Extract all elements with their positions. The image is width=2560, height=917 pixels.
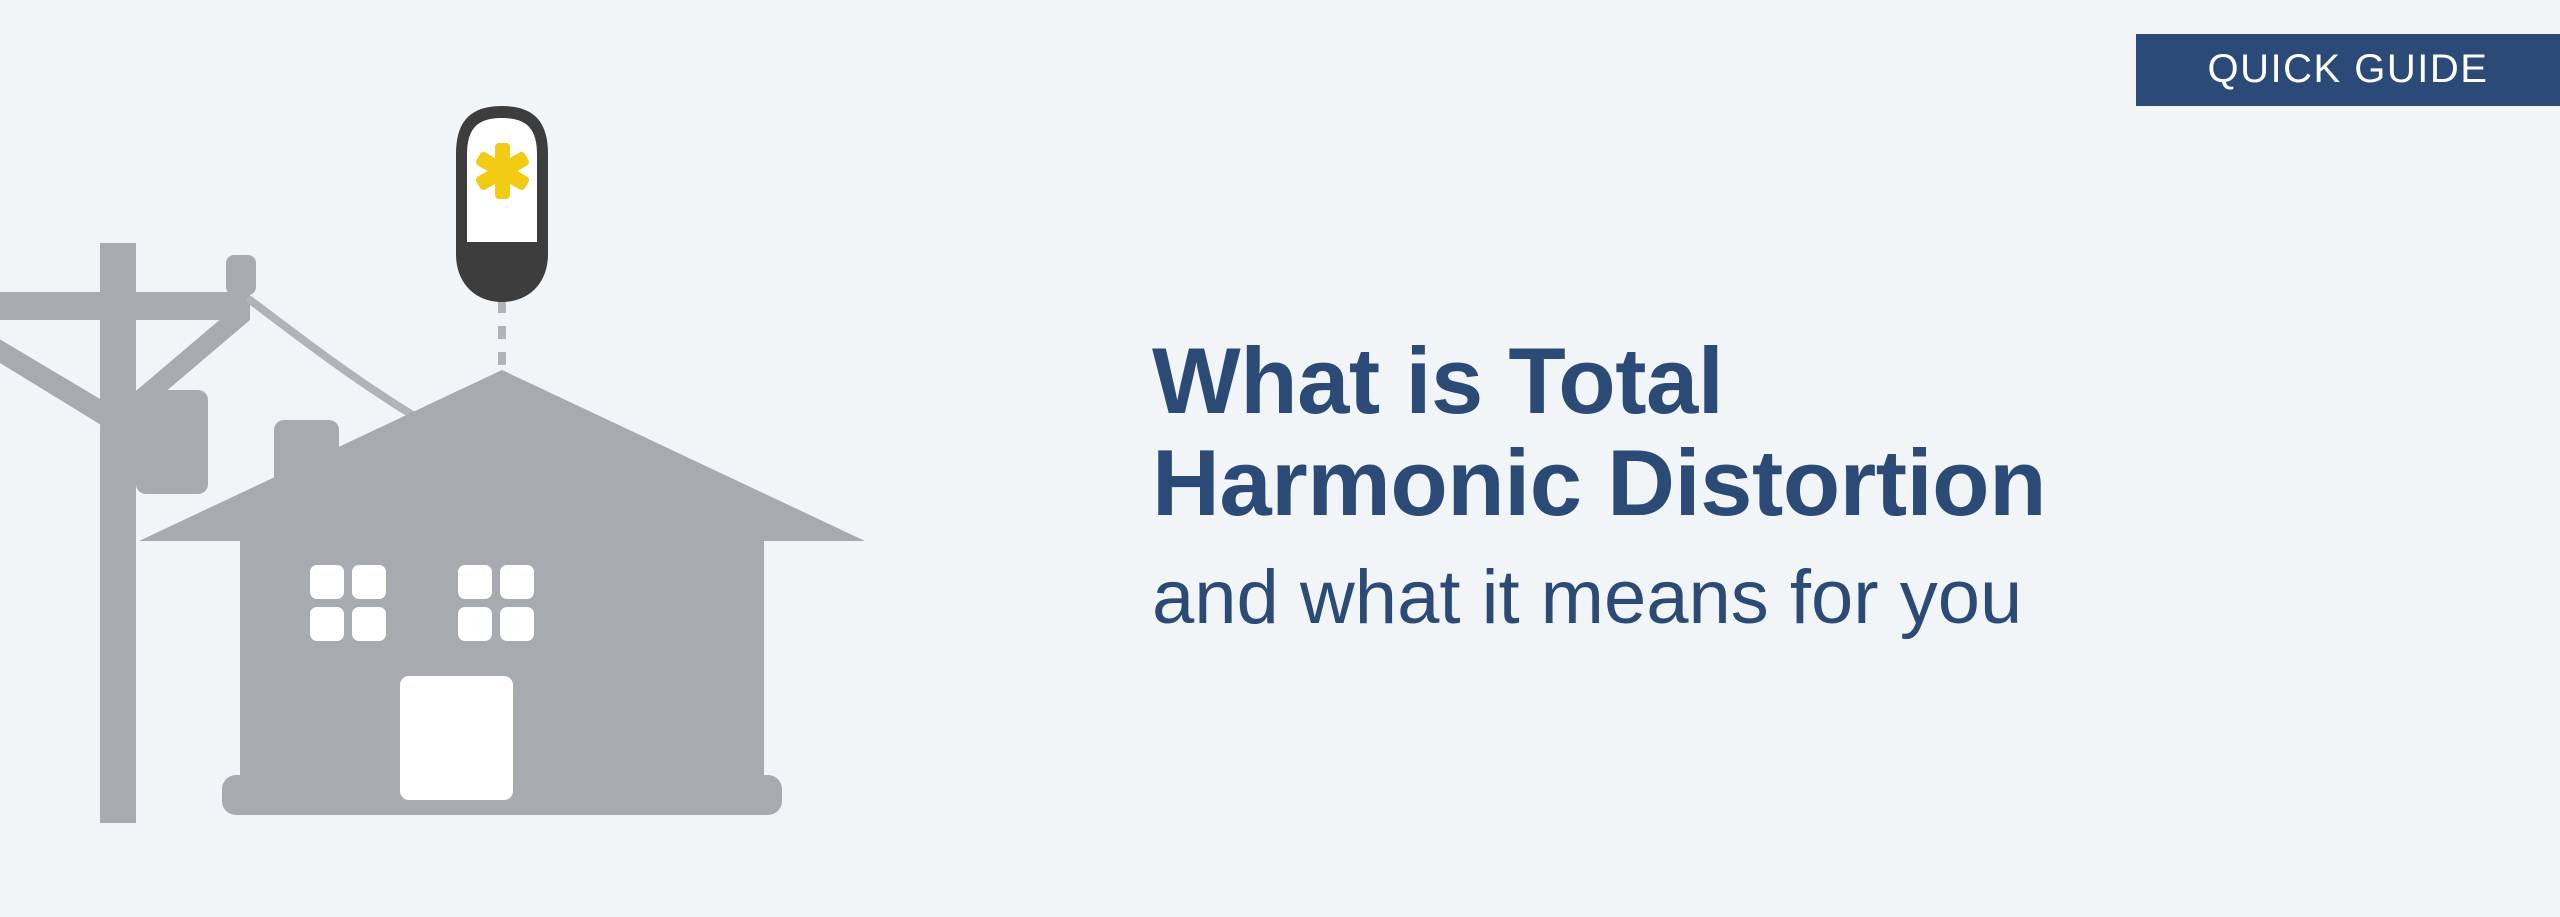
quick-guide-badge[interactable]: QUICK GUIDE bbox=[2136, 34, 2560, 106]
headline-line-2: Harmonic Distortion bbox=[1152, 432, 2332, 534]
headline-line-1: What is Total bbox=[1152, 330, 2332, 432]
illustration bbox=[0, 0, 1120, 917]
house bbox=[139, 370, 865, 815]
copy-block: What is Total Harmonic Distortion and wh… bbox=[1152, 330, 2332, 640]
pole-mast bbox=[100, 243, 136, 823]
quick-guide-badge-label: QUICK GUIDE bbox=[2208, 49, 2489, 89]
pole-crossarm bbox=[0, 292, 250, 320]
smart-meter-pin bbox=[456, 106, 548, 302]
house-door bbox=[400, 676, 513, 800]
page-title: What is Total Harmonic Distortion bbox=[1152, 330, 2332, 533]
page-subtitle: and what it means for you bbox=[1152, 555, 2332, 640]
pole-transformer-box bbox=[136, 390, 208, 494]
banner-root: QUICK GUIDE bbox=[0, 0, 2560, 917]
house-roof bbox=[139, 370, 865, 541]
pole-insulator bbox=[226, 255, 256, 295]
